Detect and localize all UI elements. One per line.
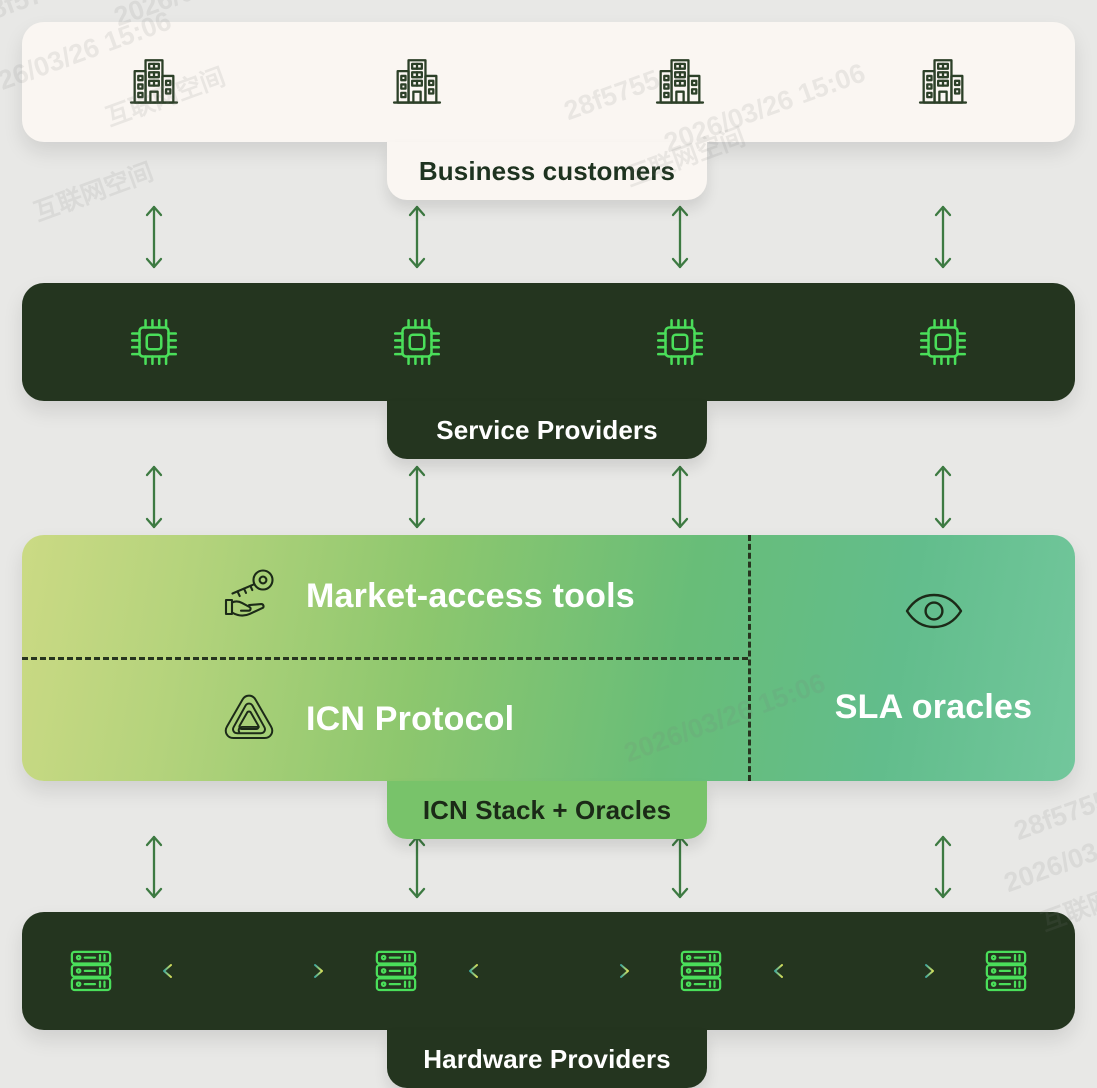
double-headed-vertical-arrow-icon [405, 463, 429, 531]
double-headed-vertical-arrow-icon [142, 833, 166, 901]
building-icon [914, 53, 972, 111]
connector-slot [22, 822, 285, 912]
stack-horizontal-divider [22, 657, 748, 660]
double-headed-vertical-arrow-icon [668, 833, 692, 901]
label-tab-icn-stack: ICN Stack + Oracles [387, 781, 707, 839]
connector-row-service-to-stack [22, 452, 1075, 542]
band-service-providers [22, 283, 1075, 401]
cpu-chip-icon [651, 313, 709, 371]
business-customer-slot [812, 53, 1075, 111]
band-hardware-providers [22, 912, 1075, 1030]
label-tab-service-providers: Service Providers [387, 401, 707, 459]
double-headed-vertical-arrow-icon [142, 463, 166, 531]
connector-slot [549, 452, 812, 542]
connector-slot [812, 192, 1075, 282]
double-headed-vertical-arrow-icon [668, 463, 692, 531]
business-customer-slot [285, 53, 548, 111]
connector-slot [22, 452, 285, 542]
icn-trefoil-logo-icon [218, 690, 280, 748]
double-headed-vertical-arrow-icon [931, 463, 955, 531]
cpu-chip-icon [914, 313, 972, 371]
business-customer-slot [549, 53, 812, 111]
band-label-text: Service Providers [436, 415, 657, 446]
hand-holding-key-icon [218, 567, 280, 625]
band-label-text: Hardware Providers [423, 1044, 670, 1075]
eye-icon [903, 590, 965, 632]
stack-cell-icn-protocol[interactable]: ICN Protocol [218, 657, 514, 781]
building-icon [651, 53, 709, 111]
stack-cell-title: ICN Protocol [306, 700, 514, 739]
connector-slot [812, 822, 1075, 912]
stack-cell-market-access-tools[interactable]: Market-access tools [218, 535, 635, 657]
service-provider-slot [285, 313, 548, 371]
connector-slot [549, 192, 812, 282]
building-icon [388, 53, 446, 111]
label-tab-business-customers: Business customers [387, 142, 707, 200]
connector-slot [22, 192, 285, 282]
double-headed-vertical-arrow-icon [668, 203, 692, 271]
band-icn-stack: Market-access tools ICN Protocol SLA ora… [22, 535, 1075, 781]
service-provider-slot [549, 313, 812, 371]
band-business-customers [22, 22, 1075, 142]
business-customer-slot [22, 53, 285, 111]
stack-vertical-divider [748, 535, 751, 781]
cpu-chip-icon [388, 313, 446, 371]
double-headed-vertical-arrow-icon [142, 203, 166, 271]
double-headed-vertical-arrow-icon [931, 833, 955, 901]
service-provider-slot [22, 313, 285, 371]
label-tab-hardware-providers: Hardware Providers [387, 1030, 707, 1088]
stack-cell-title: Market-access tools [306, 577, 635, 616]
double-headed-vertical-arrow-icon [405, 203, 429, 271]
double-headed-vertical-arrow-icon [405, 833, 429, 901]
connector-slot [812, 452, 1075, 542]
double-headed-vertical-arrow-icon [931, 203, 955, 271]
building-icon [125, 53, 183, 111]
service-provider-slot [812, 313, 1075, 371]
connector-slot [285, 452, 548, 542]
band-label-text: Business customers [419, 156, 675, 187]
stack-cell-sla-oracles[interactable]: SLA oracles [770, 535, 1075, 781]
cpu-chip-icon [125, 313, 183, 371]
stack-cell-title: SLA oracles [835, 688, 1032, 727]
connector-row-customers-to-service [22, 192, 1075, 282]
band-label-text: ICN Stack + Oracles [423, 795, 671, 826]
connector-slot [285, 192, 548, 282]
